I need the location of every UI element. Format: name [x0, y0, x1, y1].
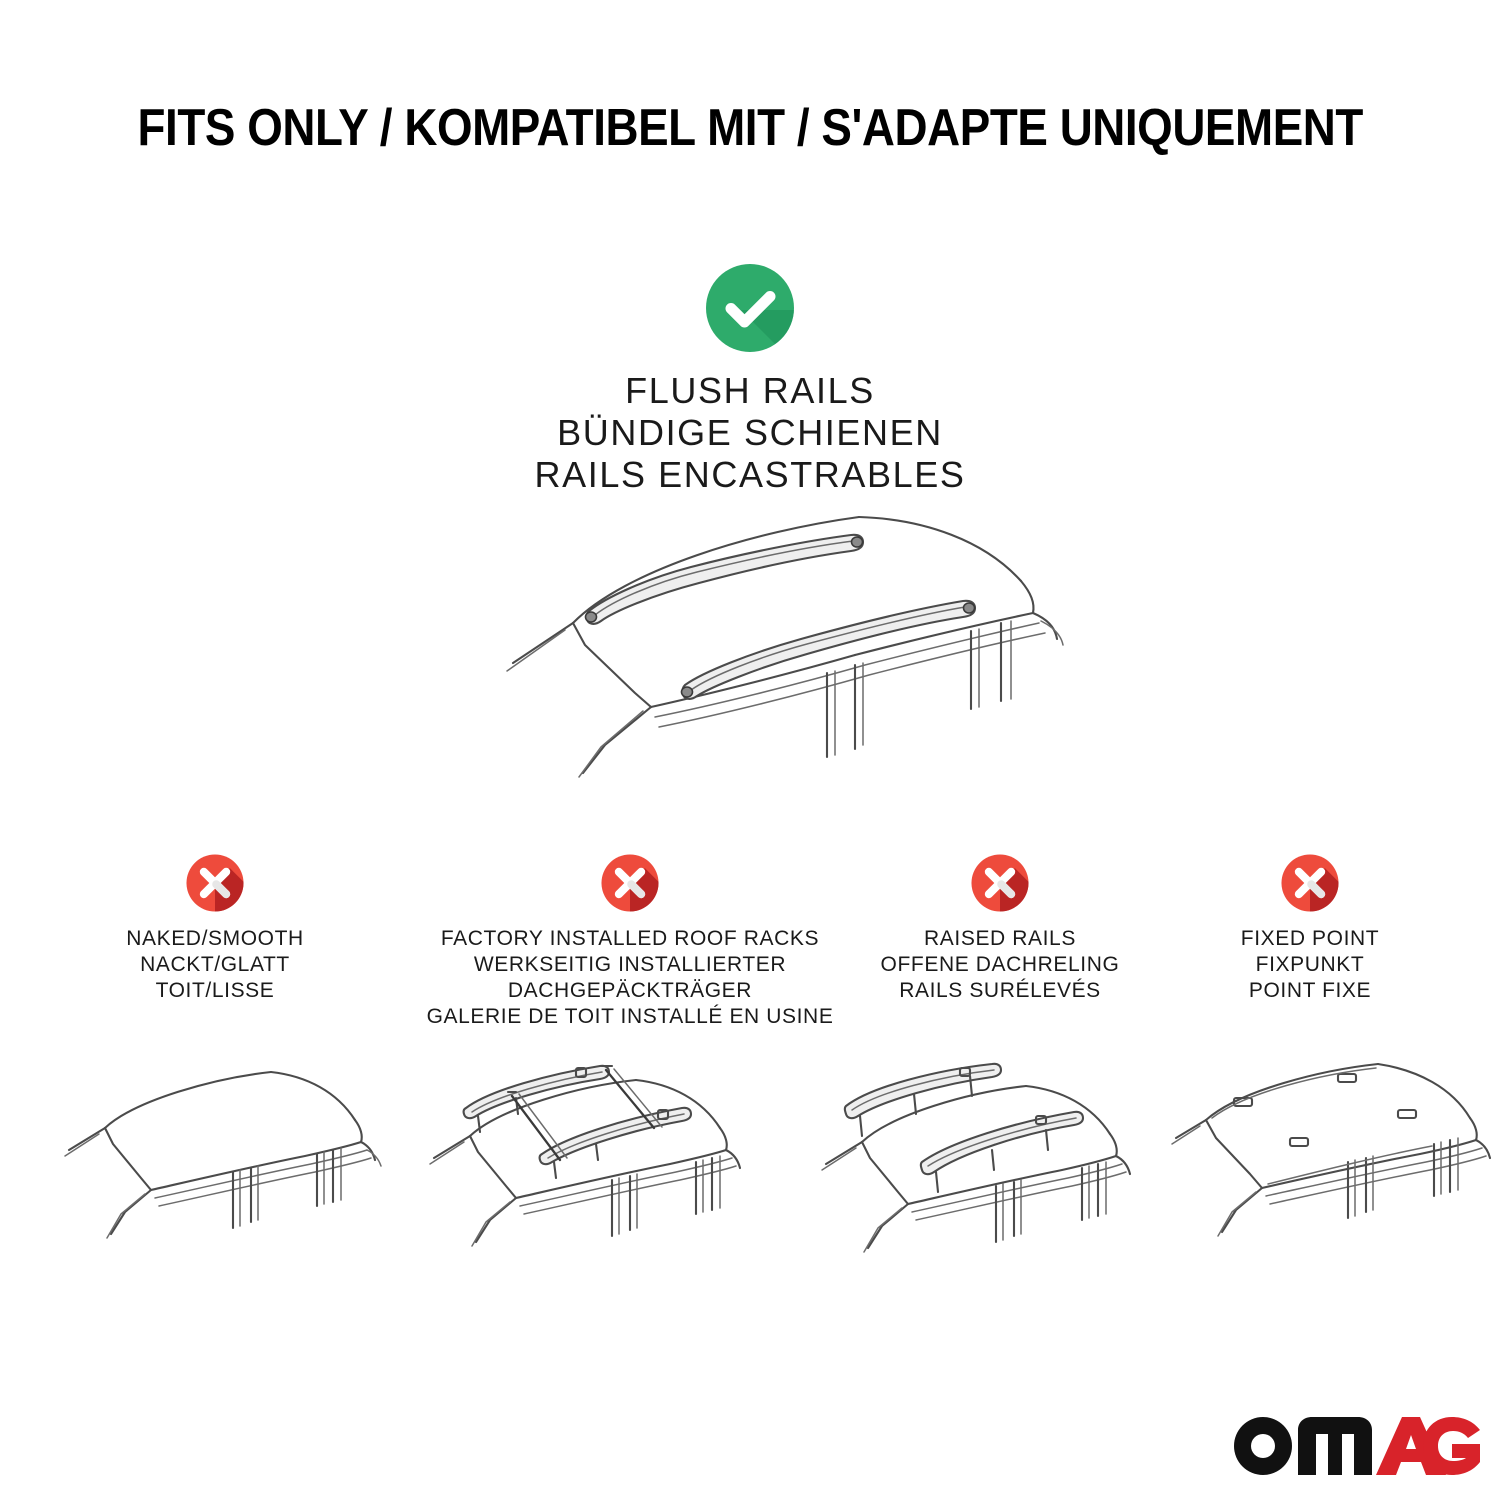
incompatible-label-de-2: DACHGEPÄCKTRÄGER	[400, 978, 860, 1004]
car-roof-flush-rails-diagram	[455, 495, 1075, 795]
incompatible-label-de: FIXPUNKT	[1175, 952, 1445, 978]
car-roof-fixed-point-diagram	[1170, 1062, 1500, 1272]
incompatible-label-en: NAKED/SMOOTH	[40, 926, 390, 952]
incompatible-label-en: RAISED RAILS	[840, 926, 1160, 952]
incompatible-item-naked-smooth: NAKED/SMOOTH NACKT/GLATT TOIT/LISSE	[40, 852, 390, 1004]
car-roof-factory-roof-racks-diagram	[420, 1062, 760, 1272]
compatible-label-de: BÜNDIGE SCHIENEN	[0, 412, 1500, 454]
incompatible-label-fr: RAILS SURÉLEVÉS	[840, 978, 1160, 1004]
incompatible-label-en: FACTORY INSTALLED ROOF RACKS	[400, 926, 860, 952]
red-x-circle-icon	[184, 852, 246, 914]
incompatible-label-fr: TOIT/LISSE	[40, 978, 390, 1004]
incompatible-label-de-1: WERKSEITIG INSTALLIERTER	[400, 952, 860, 978]
incompatible-item-factory-roof-racks: FACTORY INSTALLED ROOF RACKS WERKSEITIG …	[400, 852, 860, 1030]
incompatible-label-fr: POINT FIXE	[1175, 978, 1445, 1004]
incompatible-label-en: FIXED POINT	[1175, 926, 1445, 952]
red-x-circle-icon	[969, 852, 1031, 914]
incompatible-label-de: NACKT/GLATT	[40, 952, 390, 978]
compatible-label-fr: RAILS ENCASTRABLES	[0, 454, 1500, 496]
car-roof-naked-smooth-diagram	[55, 1062, 395, 1272]
compatible-label-en: FLUSH RAILS	[0, 370, 1500, 412]
omac-logo	[1230, 1408, 1480, 1480]
compatible-section: FLUSH RAILS BÜNDIGE SCHIENEN RAILS ENCAS…	[0, 258, 1500, 496]
red-x-circle-icon	[1279, 852, 1341, 914]
header-banner: FITS ONLY / KOMPATIBEL MIT / S'ADAPTE UN…	[0, 98, 1500, 158]
red-x-circle-icon	[599, 852, 661, 914]
car-roof-raised-rails-diagram	[810, 1062, 1150, 1272]
incompatible-item-raised-rails: RAISED RAILS OFFENE DACHRELING RAILS SUR…	[840, 852, 1160, 1004]
incompatible-label-de: OFFENE DACHRELING	[840, 952, 1160, 978]
incompatible-label-fr: GALERIE DE TOIT INSTALLÉ EN USINE	[400, 1004, 860, 1030]
compatible-labels: FLUSH RAILS BÜNDIGE SCHIENEN RAILS ENCAS…	[0, 370, 1500, 496]
page-title: FITS ONLY / KOMPATIBEL MIT / S'ADAPTE UN…	[137, 98, 1362, 158]
green-check-circle-icon	[700, 258, 800, 358]
incompatible-item-fixed-point: FIXED POINT FIXPUNKT POINT FIXE	[1175, 852, 1445, 1004]
